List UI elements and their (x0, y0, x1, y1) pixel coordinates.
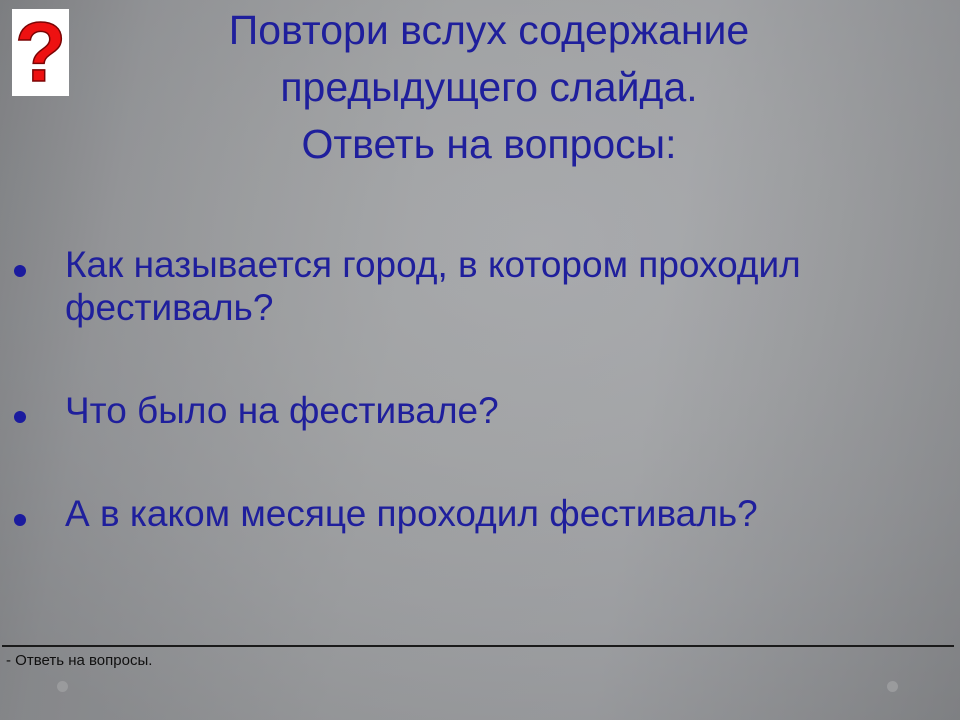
question-mark-glyph: ? (15, 13, 66, 91)
question-mark-icon: ? (12, 9, 69, 96)
list-item-label: Что было на фестивале? (65, 389, 855, 432)
decorative-dot-right (887, 681, 898, 692)
page-title-line-3: Ответь на вопросы: (118, 116, 860, 173)
page-title-line-2: предыдущего слайда. (118, 59, 860, 116)
list-item: Что было на фестивале? (0, 389, 960, 432)
slide-canvas: ? Повтори вслух содержание предыдущего с… (0, 0, 960, 720)
list-item-label: Как называется город, в котором проходил… (65, 243, 855, 329)
list-item-label: А в каком месяце проходил фестиваль? (65, 492, 855, 535)
decorative-dot-left (57, 681, 68, 692)
bullet-dot-icon (14, 514, 26, 526)
page-title: Повтори вслух содержание предыдущего сла… (118, 2, 860, 173)
footer-divider (2, 645, 954, 647)
bullet-dot-icon (14, 265, 26, 277)
page-title-line-1: Повтори вслух содержание (118, 2, 860, 59)
question-list: Как называется город, в котором проходил… (0, 243, 960, 535)
bullet-dot-icon (14, 411, 26, 423)
list-item: Как называется город, в котором проходил… (0, 243, 960, 329)
footer-note: - Ответь на вопросы. (6, 651, 152, 671)
list-item: А в каком месяце проходил фестиваль? (0, 492, 960, 535)
